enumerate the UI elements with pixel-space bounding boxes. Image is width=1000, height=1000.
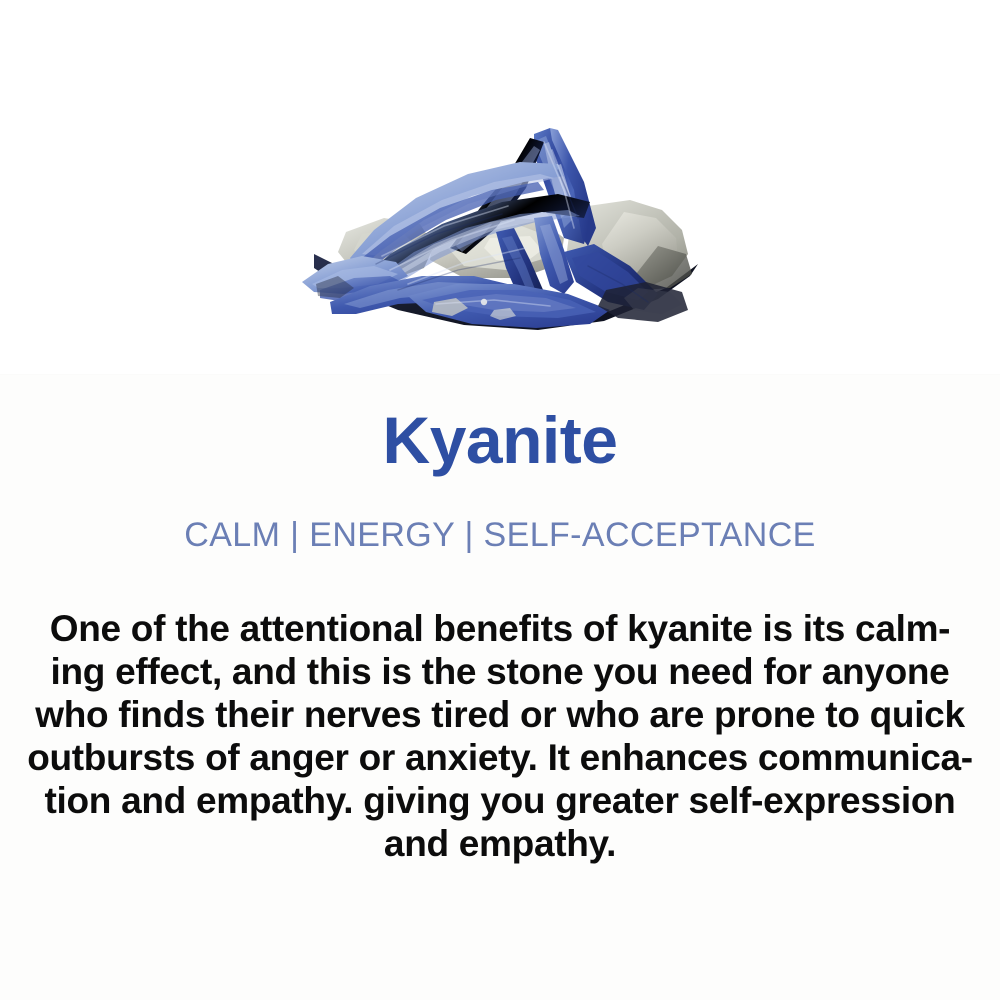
kyanite-mineral-specimen-icon [258,78,718,340]
description-line: ing effect, and this is the stone you ne… [22,650,978,693]
description-line: One of the attentional benefits of kyani… [22,607,978,650]
description-line: and empathy. [22,822,978,865]
description-line: who finds their nerves tired or who are … [22,693,978,736]
text-panel: Kyanite CALM | ENERGY | SELF-ACCEPTANCE … [0,375,1000,1000]
kyanite-info-card: Kyanite CALM | ENERGY | SELF-ACCEPTANCE … [0,0,1000,1000]
keyword-subtitle: CALM | ENERGY | SELF-ACCEPTANCE [0,514,1000,556]
description-line: outbursts of anger or anxiety. It enhanc… [22,736,978,779]
description-text: One of the attentional benefits of kyani… [22,607,978,865]
page-title: Kyanite [0,401,1000,479]
specimen-image-region [0,0,1000,374]
description-line: tion and empathy. giving you greater sel… [22,779,978,822]
